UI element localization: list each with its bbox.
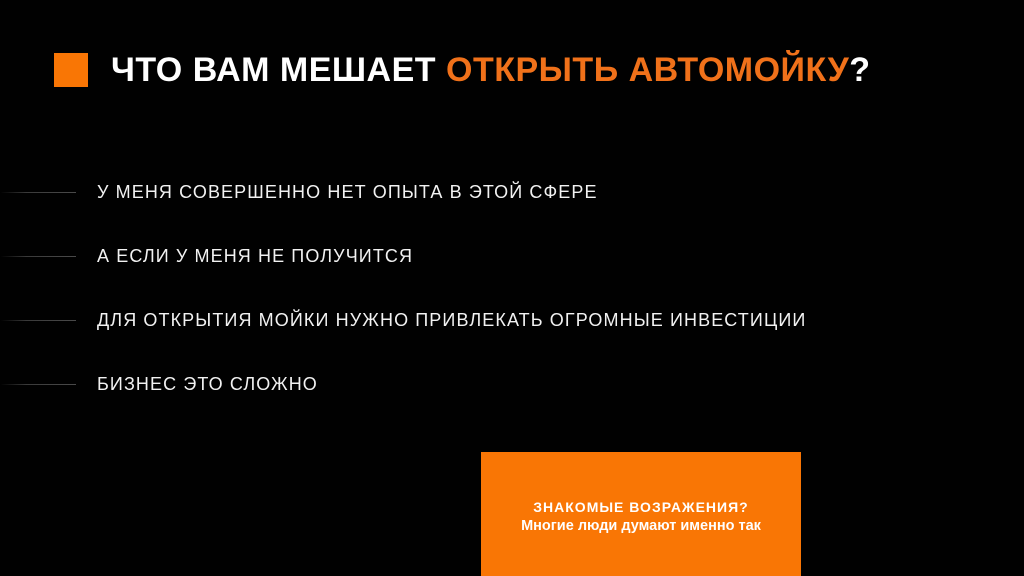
orange-square-marker-icon xyxy=(54,53,88,87)
page-title: ЧТО ВАМ МЕШАЕТ ОТКРЫТЬ АВТОМОЙКУ? xyxy=(111,53,871,87)
list-item-label: ДЛЯ ОТКРЫТИЯ МОЙКИ НУЖНО ПРИВЛЕКАТЬ ОГРО… xyxy=(97,311,806,329)
bullet-rule-icon xyxy=(0,384,76,385)
callout-subtitle: Многие люди думают именно так xyxy=(521,517,761,535)
list-item: А ЕСЛИ У МЕНЯ НЕ ПОЛУЧИТСЯ xyxy=(0,224,1024,288)
title-lead-text: ЧТО ВАМ МЕШАЕТ xyxy=(111,51,446,89)
list-item: ДЛЯ ОТКРЫТИЯ МОЙКИ НУЖНО ПРИВЛЕКАТЬ ОГРО… xyxy=(0,288,1024,352)
list-item-label: А ЕСЛИ У МЕНЯ НЕ ПОЛУЧИТСЯ xyxy=(97,247,413,265)
title-tail-text: ? xyxy=(849,51,870,89)
slide-title: ЧТО ВАМ МЕШАЕТ ОТКРЫТЬ АВТОМОЙКУ? xyxy=(54,46,871,94)
list-item-label: У МЕНЯ СОВЕРШЕННО НЕТ ОПЫТА В ЭТОЙ СФЕРЕ xyxy=(97,183,598,201)
list-item-label: БИЗНЕС ЭТО СЛОЖНО xyxy=(97,375,318,393)
list-item: БИЗНЕС ЭТО СЛОЖНО xyxy=(0,352,1024,416)
bullet-rule-icon xyxy=(0,256,76,257)
bullet-rule-icon xyxy=(0,192,76,193)
presentation-slide: ЧТО ВАМ МЕШАЕТ ОТКРЫТЬ АВТОМОЙКУ? У МЕНЯ… xyxy=(0,0,1024,576)
title-accent-text: ОТКРЫТЬ АВТОМОЙКУ xyxy=(446,51,849,89)
callout-title: ЗНАКОМЫЕ ВОЗРАЖЕНИЯ? xyxy=(533,499,748,515)
bullet-rule-icon xyxy=(0,320,76,321)
objection-list: У МЕНЯ СОВЕРШЕННО НЕТ ОПЫТА В ЭТОЙ СФЕРЕ… xyxy=(0,160,1024,416)
callout-box: ЗНАКОМЫЕ ВОЗРАЖЕНИЯ? Многие люди думают … xyxy=(481,452,801,576)
list-item: У МЕНЯ СОВЕРШЕННО НЕТ ОПЫТА В ЭТОЙ СФЕРЕ xyxy=(0,160,1024,224)
